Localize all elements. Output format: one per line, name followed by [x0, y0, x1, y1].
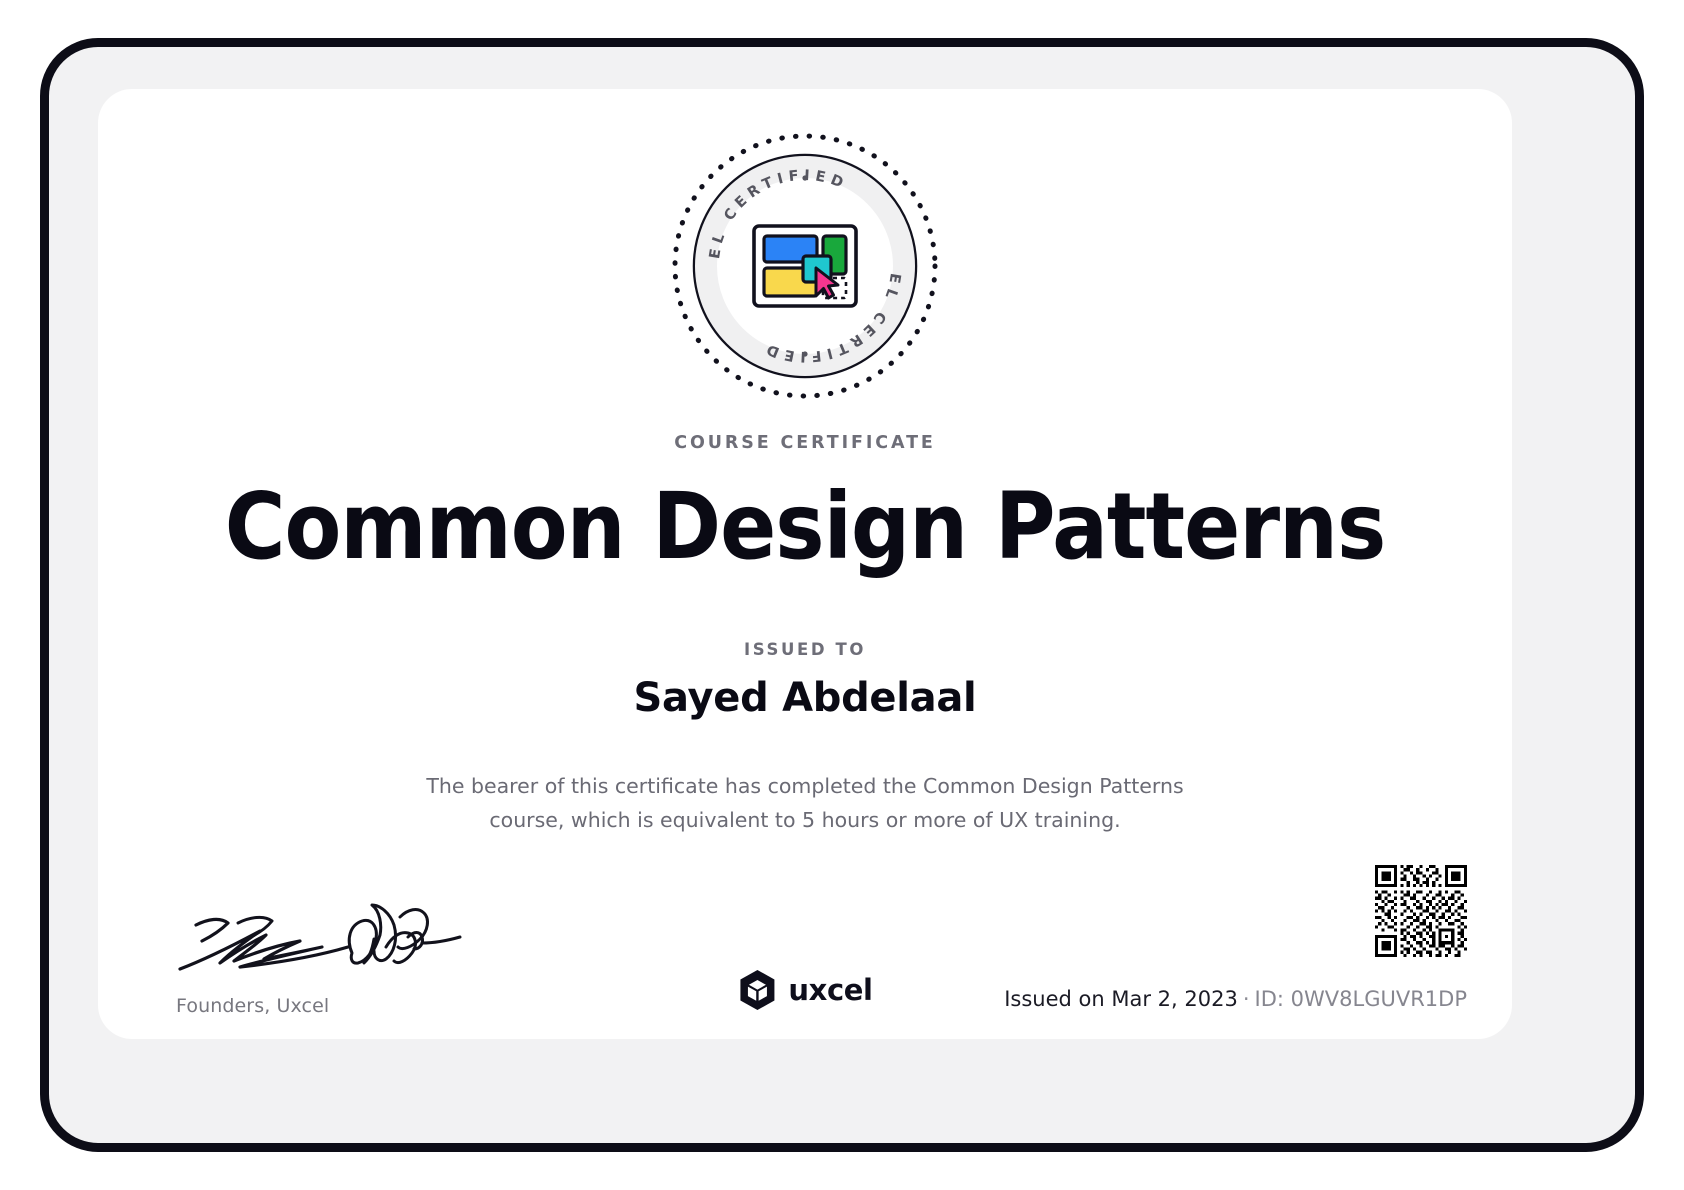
recipient-name: Sayed Abdelaal	[98, 675, 1512, 721]
uxcel-wordmark: uxcel	[788, 973, 872, 1007]
issued-to-label: ISSUED TO	[98, 640, 1512, 659]
uxcel-brand: uxcel	[737, 969, 872, 1011]
certificate-card: UXCEL CERTIFIED UXCEL CERTIFIED	[98, 89, 1512, 1039]
course-certificate-kicker: COURSE CERTIFICATE	[98, 433, 1512, 453]
signature-caption: Founders, Uxcel	[176, 995, 516, 1017]
seal-graphic: UXCEL CERTIFIED UXCEL CERTIFIED	[670, 131, 940, 401]
meta-separator: ·	[1238, 987, 1255, 1011]
certification-seal: UXCEL CERTIFIED UXCEL CERTIFIED	[670, 131, 940, 401]
certificate-footer: Founders, Uxcel uxcel	[98, 849, 1512, 1039]
design-patterns-layout-icon	[754, 226, 856, 306]
qr-code-graphic	[1375, 865, 1467, 957]
certificate-id: ID: 0WV8LGUVR1DP	[1255, 987, 1467, 1011]
verification-qr-code[interactable]	[1375, 865, 1467, 957]
description-line-1: The bearer of this certificate has compl…	[425, 769, 1185, 803]
issued-on-date: Issued on Mar 2, 2023	[1004, 987, 1238, 1011]
certificate-outer-frame: UXCEL CERTIFIED UXCEL CERTIFIED	[40, 38, 1644, 1152]
uxcel-cube-hexagon-logo	[737, 969, 777, 1011]
seal-bullet-top	[802, 175, 807, 180]
page-title: Common Design Patterns	[98, 479, 1512, 576]
seal-bullet-bottom	[802, 351, 807, 356]
signature-block: Founders, Uxcel	[176, 901, 516, 1017]
description-line-2: course, which is equivalent to 5 hours o…	[425, 803, 1185, 837]
certificate-meta: Issued on Mar 2, 2023·ID: 0WV8LGUVR1DP	[1004, 987, 1467, 1011]
founder-signatures	[176, 901, 476, 987]
certificate-description: The bearer of this certificate has compl…	[425, 769, 1185, 838]
